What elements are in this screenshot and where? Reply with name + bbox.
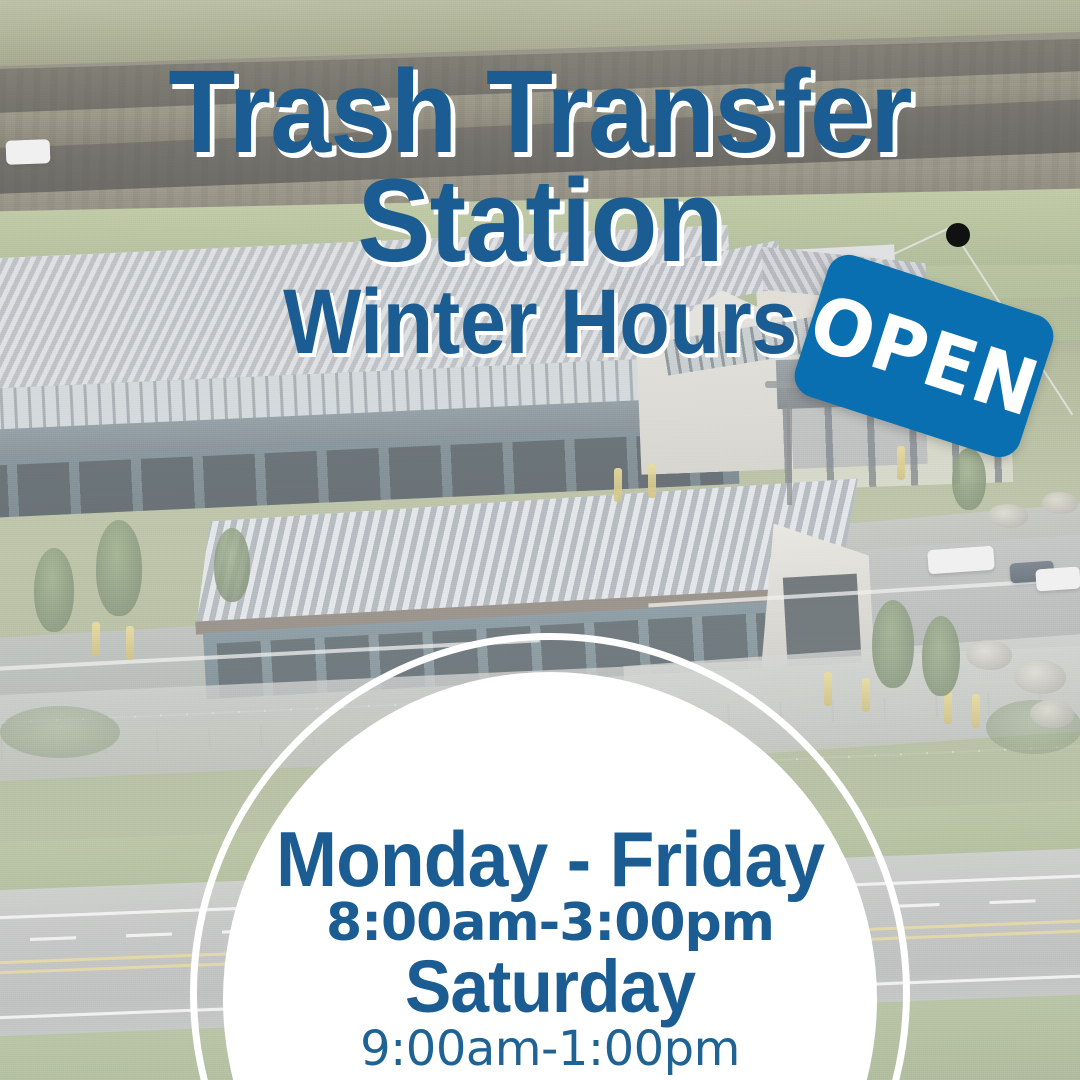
page-title: Trash Transfer Station [38,0,1042,275]
weekend-time-label: 9:00am-1:00pm [223,1023,877,1076]
weekday-time-label: 8:00am-3:00pm [223,896,877,951]
weekday-days-label: Monday - Friday [243,822,858,896]
poster-canvas: Trash Transfer Station Winter Hours OPEN… [0,0,1080,1080]
headline-block: Trash Transfer Station Winter Hours [0,0,1080,366]
weekend-days-label: Saturday [243,951,858,1024]
hours-text-block: Monday - Friday 8:00am-3:00pm Saturday 9… [223,822,877,1076]
page-subtitle: Winter Hours [54,279,1026,366]
